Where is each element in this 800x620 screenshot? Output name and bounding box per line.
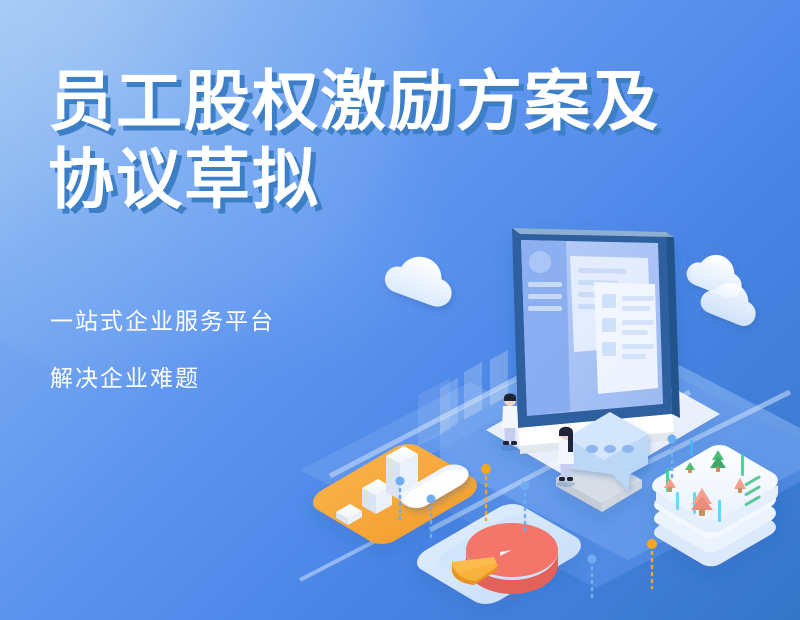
chat-bubble-icon — [566, 412, 648, 490]
connector-node-blue-2 — [396, 477, 405, 523]
cloud-right-icon — [683, 246, 764, 330]
connector-node-blue-4 — [588, 555, 597, 601]
server-stack — [652, 440, 778, 566]
title-line-2: 协议草拟 — [48, 140, 748, 218]
server-trees — [664, 450, 746, 516]
ground-platform-left — [300, 382, 520, 496]
person-standing-short-hair — [501, 394, 519, 452]
cloud-left-icon — [381, 247, 461, 311]
connector-node-blue-5 — [668, 435, 677, 481]
connector-node-blue-1 — [427, 495, 436, 541]
connector-node-orange-2 — [647, 539, 657, 588]
desktop-monitor — [486, 228, 720, 512]
bar-chart-blocks — [336, 446, 468, 525]
subtitle-line-2: 解决企业难题 — [50, 363, 275, 393]
monitor-screen-sidebar — [521, 240, 570, 416]
pie-chart — [452, 523, 558, 594]
connector-node-orange-1 — [481, 464, 491, 520]
subtitle-line-1: 一站式企业服务平台 — [50, 306, 275, 336]
connector-lines — [396, 435, 677, 601]
orange-platform — [313, 444, 477, 544]
person-standing-long-hair — [557, 427, 575, 487]
poster-canvas: 员工股权激励方案及 协议草拟 一站式企业服务平台 解决企业难题 — [0, 0, 800, 620]
ghost-buildings — [418, 339, 532, 446]
monitor-screen-document — [570, 256, 651, 352]
poster-subtitles: 一站式企业服务平台 解决企业难题 — [50, 306, 275, 393]
connector-roads — [300, 356, 790, 580]
monitor-screen-checklist — [594, 282, 658, 394]
blue-platform — [417, 504, 581, 604]
ground-platform-upper — [400, 330, 800, 588]
poster-headline: 员工股权激励方案及 协议草拟 — [48, 62, 748, 218]
title-line-1: 员工股权激励方案及 — [48, 62, 748, 140]
connector-node-blue-3 — [521, 482, 530, 531]
